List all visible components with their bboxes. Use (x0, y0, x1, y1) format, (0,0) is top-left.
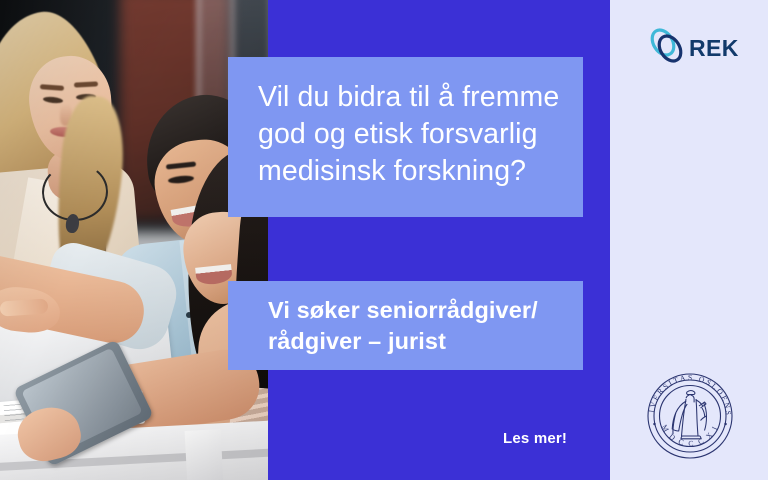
job-title-line-1: Vi søker seniorrådgiver/ (268, 295, 555, 326)
rek-logo[interactable]: REK (648, 25, 740, 71)
read-more-link[interactable]: Les mer! (503, 430, 567, 447)
question-line-2: god og etisk forsvarlig (258, 116, 555, 153)
svg-text:UNIVERSITAS OSLOENSIS: UNIVERSITAS OSLOENSIS (640, 366, 733, 417)
job-title-line-2: rådgiver – jurist (268, 326, 555, 357)
question-line-1: Vil du bidra til å fremme (258, 79, 555, 116)
rek-interlocking-rings-icon (648, 25, 688, 72)
rek-wordmark: REK (689, 35, 739, 62)
question-headline-box: Vil du bidra til å fremme god og etisk f… (228, 57, 583, 217)
job-title-box: Vi søker seniorrådgiver/ rådgiver – juri… (228, 281, 583, 370)
job-advertisement-banner: Vil du bidra til å fremme god og etisk f… (0, 0, 768, 480)
university-of-oslo-seal: UNIVERSITAS OSLOENSIS M D C C C X I (640, 366, 740, 466)
question-line-3: medisinsk forskning? (258, 153, 555, 190)
